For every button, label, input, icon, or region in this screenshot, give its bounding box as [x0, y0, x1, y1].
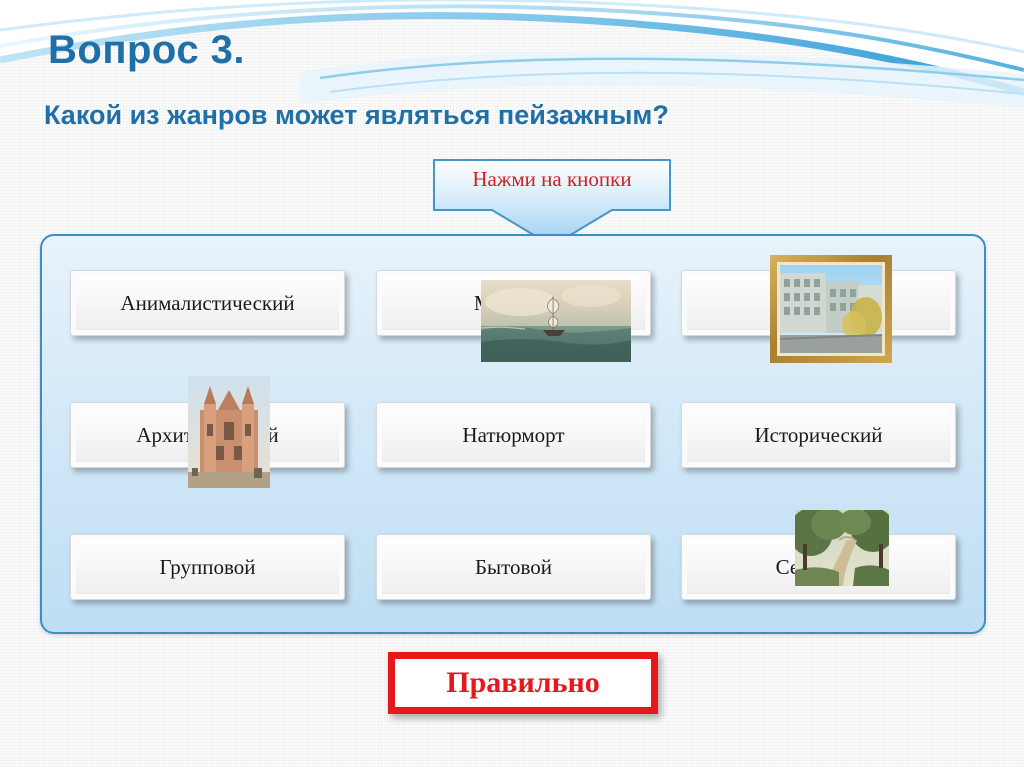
option-label: Бытовой — [465, 555, 562, 580]
question-text: Какой из жанров может являться пейзажным… — [44, 100, 669, 131]
option-label: Групповой — [149, 555, 265, 580]
option-cell-6[interactable]: Исторический — [681, 402, 956, 468]
slide: Вопрос 3. Какой из жанров может являться… — [0, 0, 1024, 767]
question-title: Вопрос 3. — [48, 28, 245, 73]
option-button-historical[interactable]: Исторический — [681, 402, 956, 468]
architecture-cathedral-painting — [188, 376, 270, 488]
option-label: Натюрморт — [452, 423, 574, 448]
answers-grid: Анималистический Морской Городской Архит… — [70, 270, 956, 600]
correct-answer-label: Правильно — [446, 666, 600, 700]
option-button-group[interactable]: Групповой — [70, 534, 345, 600]
option-label: Исторический — [744, 423, 892, 448]
seascape-ship-painting — [481, 280, 631, 362]
option-cell-1[interactable]: Анималистический — [70, 270, 345, 336]
city-street-framed-painting — [770, 255, 892, 363]
option-cell-8[interactable]: Бытовой — [376, 534, 651, 600]
rural-country-road-painting — [795, 510, 889, 586]
option-button-genre[interactable]: Бытовой — [376, 534, 651, 600]
option-button-stilllife[interactable]: Натюрморт — [376, 402, 651, 468]
option-label: Анималистический — [110, 291, 304, 316]
option-cell-7[interactable]: Групповой — [70, 534, 345, 600]
correct-answer-box[interactable]: Правильно — [388, 652, 658, 714]
option-cell-5[interactable]: Натюрморт — [376, 402, 651, 468]
option-button-animalistic[interactable]: Анималистический — [70, 270, 345, 336]
answers-panel: Анималистический Морской Городской Архит… — [40, 234, 986, 634]
